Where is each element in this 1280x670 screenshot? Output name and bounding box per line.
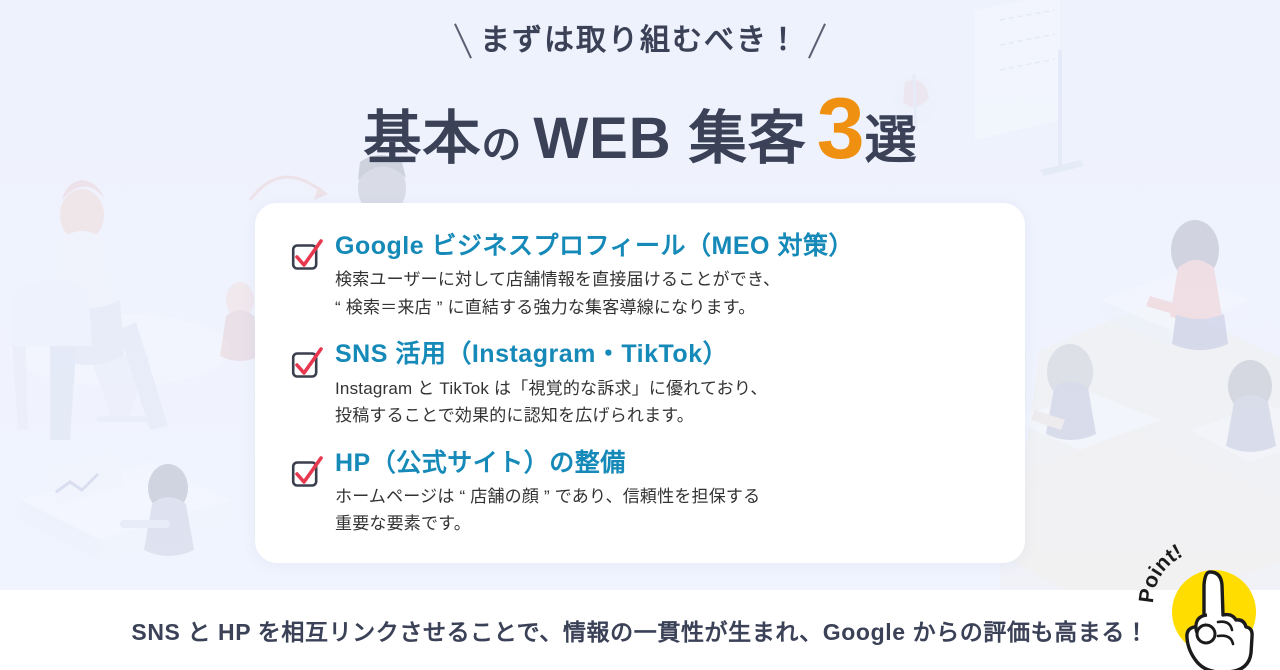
title-number: 3: [817, 81, 863, 177]
bg-desk-scene: [20, 451, 230, 560]
title-part-2: WEB 集客: [533, 106, 806, 171]
title-particle-no: の: [481, 123, 521, 167]
list-item-description: Instagram と TikTok は「視覚的な訴求」に優れており、 投稿する…: [335, 375, 987, 430]
list-item-title: Google ビジネスプロフィール（MEO 対策）: [335, 231, 987, 262]
footer-text: SNS と HP を相互リンクさせることで、情報の一貫性が生まれ、Google …: [131, 613, 1148, 647]
list-item: HP（公式サイト）の整備 ホームページは “ 店舗の顔 ” であり、信頼性を担保…: [291, 448, 987, 538]
checkbox-checked-icon: [291, 458, 321, 488]
list-item-body: SNS 活用（Instagram・TikTok） Instagram と Tik…: [335, 339, 987, 429]
title-part-1: 基本: [363, 106, 481, 171]
list-item-description: ホームページは “ 店舗の顔 ” であり、信頼性を担保する 重要な要素です。: [335, 483, 987, 538]
page-title: 基本のWEB 集客3選: [0, 86, 1280, 172]
header-kicker: まずは取り組むべき！: [0, 22, 1280, 60]
list-item-body: Google ビジネスプロフィール（MEO 対策） 検索ユーザーに対して店舗情報…: [335, 231, 987, 321]
list-item: SNS 活用（Instagram・TikTok） Instagram と Tik…: [291, 339, 987, 429]
title-suffix: 選: [865, 112, 917, 170]
list-item-body: HP（公式サイト）の整備 ホームページは “ 店舗の顔 ” であり、信頼性を担保…: [335, 448, 987, 538]
footer-banner: SNS と HP を相互リンクさせることで、情報の一貫性が生まれ、Google …: [0, 590, 1280, 670]
kicker-text: まずは取り組むべき！: [480, 23, 800, 59]
slash-left-icon: [454, 23, 472, 58]
tips-card: Google ビジネスプロフィール（MEO 対策） 検索ユーザーに対して店舗情報…: [255, 203, 1025, 563]
list-item-title: HP（公式サイト）の整備: [335, 448, 987, 479]
list-item-description: 検索ユーザーに対して店舗情報を直接届けることができ、 “ 検索＝来店 ” に直結…: [335, 266, 987, 321]
list-item: Google ビジネスプロフィール（MEO 対策） 検索ユーザーに対して店舗情報…: [291, 231, 987, 321]
infographic-canvas: まずは取り組むべき！ 基本のWEB 集客3選 Google ビジネスプロフィール…: [0, 0, 1280, 670]
slash-right-icon: [808, 23, 826, 58]
list-item-title: SNS 活用（Instagram・TikTok）: [335, 339, 987, 370]
checkbox-checked-icon: [291, 241, 321, 271]
checkbox-checked-icon: [291, 349, 321, 379]
point-badge: Point!: [1144, 546, 1262, 664]
